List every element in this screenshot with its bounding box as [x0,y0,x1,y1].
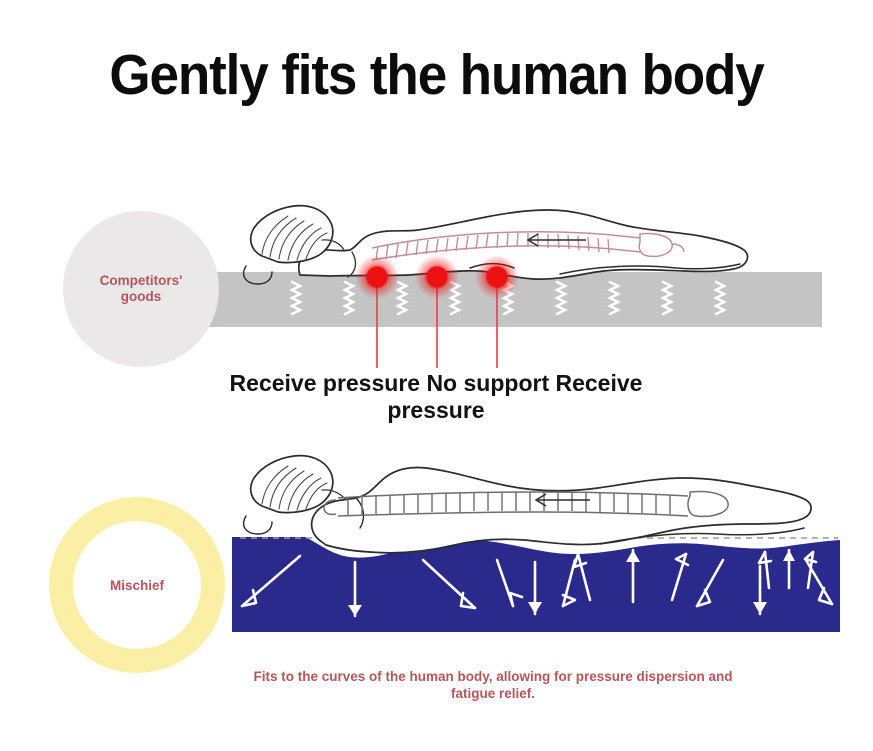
pressure-point[interactable] [427,267,448,288]
badge-competitors-goods[interactable]: Competitors' goods [63,211,219,367]
badge-mischief[interactable]: Mischief [49,497,225,673]
pressure-point[interactable] [487,267,508,288]
badge-mischief-inner: Mischief [73,521,201,649]
badge-competitors-goods-label: Competitors' goods [100,273,183,305]
infographic-canvas: Gently fits the human body [0,0,873,751]
pressure-point[interactable] [367,267,388,288]
badge-mischief-label: Mischief [110,578,164,593]
